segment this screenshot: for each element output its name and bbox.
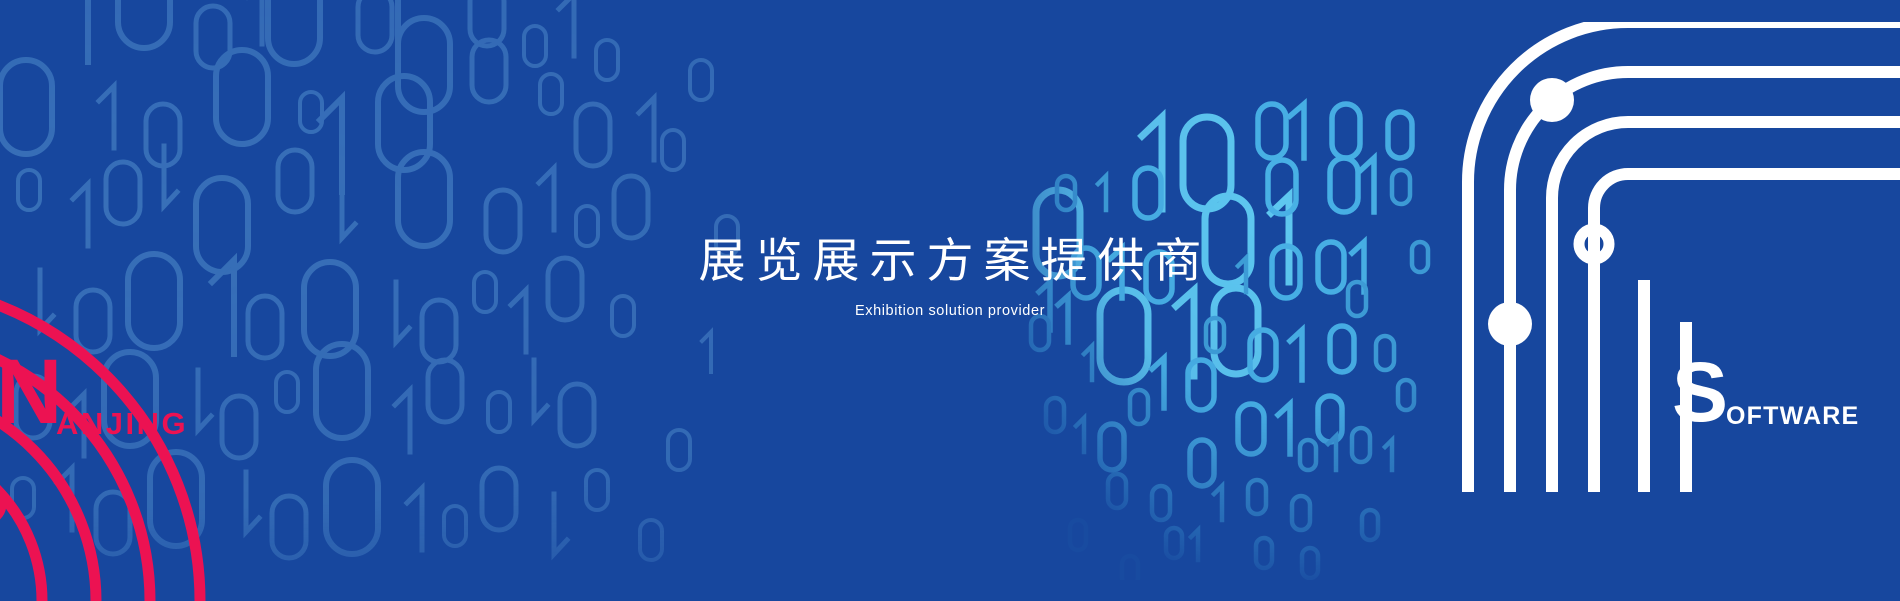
page-subtitle: Exhibition solution provider bbox=[0, 303, 1900, 319]
software-wordtail: OFTWARE bbox=[1726, 404, 1859, 429]
software-initial: S bbox=[1672, 350, 1728, 434]
nanjing-wordmark: N ANJING bbox=[0, 346, 260, 466]
banner-root: N ANJING S OFTWARE 展览展示方案提供商 Exhibition … bbox=[0, 0, 1900, 601]
nanjing-initial: N bbox=[0, 346, 60, 438]
page-title: 展览展示方案提供商 bbox=[0, 232, 1900, 289]
software-wordmark: S OFTWARE bbox=[1672, 350, 1900, 460]
nanjing-wordtail: ANJING bbox=[56, 408, 188, 439]
hero-text-block: 展览展示方案提供商 Exhibition solution provider bbox=[0, 232, 1900, 319]
